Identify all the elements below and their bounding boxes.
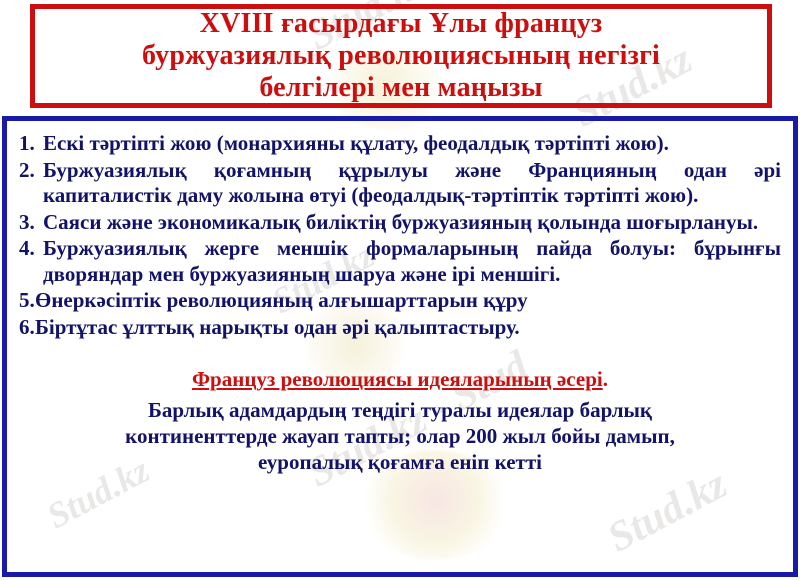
title-line-1: XVIII ғасырдағы Ұлы француз <box>41 8 761 40</box>
list-item-number: 6. <box>15 315 35 341</box>
list-item-number: 1. <box>15 131 43 157</box>
points-list: 1. Ескі тәртіпті жою (монархияны құлату,… <box>15 131 785 340</box>
list-item: 4. Буржуазиялық жерге меншік формаларыны… <box>15 236 785 287</box>
footer-line-3: еуропалық қоғамға еніп кетті <box>43 449 757 475</box>
list-item-number: 3. <box>15 210 43 236</box>
list-item: 6. Біртұтас ұлттық нарықты одан әрі қалы… <box>15 315 785 341</box>
list-item-text: Буржуазиялық жерге меншік формаларының п… <box>43 236 785 287</box>
title-box: XVIII ғасырдағы Ұлы француз буржуазиялық… <box>30 4 772 108</box>
footer-section: Француз революциясы идеяларының әсері. Б… <box>15 366 785 475</box>
list-item-text: Біртұтас ұлттық нарықты одан әрі қалыпта… <box>35 315 785 341</box>
body-box: 1. Ескі тәртіпті жою (монархияны құлату,… <box>2 116 798 577</box>
page-title: XVIII ғасырдағы Ұлы француз буржуазиялық… <box>35 8 767 104</box>
list-item-number: 5. <box>15 288 35 314</box>
body-content: 1. Ескі тәртіпті жою (монархияны құлату,… <box>7 121 793 572</box>
list-item-text: Ескі тәртіпті жою (монархияны құлату, фе… <box>43 131 785 157</box>
list-item-number: 2. <box>15 158 43 184</box>
footer-heading-text: Француз революциясы идеяларының әсері <box>192 367 603 391</box>
slide-canvas: Stud.kz Stud.kz Stud.kz Stud.kz - Stud S… <box>0 0 800 580</box>
list-item-text: Өнеркәсіптік революцияның алғышарттарын … <box>35 288 785 314</box>
list-item: 3. Саяси және экономикалық биліктің бурж… <box>15 210 785 236</box>
list-item-text: Саяси және экономикалық биліктің буржуаз… <box>43 210 785 236</box>
footer-heading: Француз революциясы идеяларының әсері. <box>43 366 757 392</box>
list-item: 1. Ескі тәртіпті жою (монархияны құлату,… <box>15 131 785 157</box>
footer-line-1: Барлық адамдардың теңдігі туралы идеялар… <box>43 397 757 423</box>
list-item: 2. Буржуазиялық қоғамның құрылуы және Фр… <box>15 158 785 209</box>
list-item-text: Буржуазиялық қоғамның құрылуы және Франц… <box>43 158 785 209</box>
footer-heading-period: . <box>603 367 608 391</box>
list-item: 5. Өнеркәсіптік революцияның алғышарттар… <box>15 288 785 314</box>
title-line-3: белгілері мен маңызы <box>41 72 761 104</box>
list-item-number: 4. <box>15 236 43 262</box>
footer-line-2: континенттерде жауап тапты; олар 200 жыл… <box>43 423 757 449</box>
title-line-2: буржуазиялық революциясының негізгі <box>41 40 761 72</box>
